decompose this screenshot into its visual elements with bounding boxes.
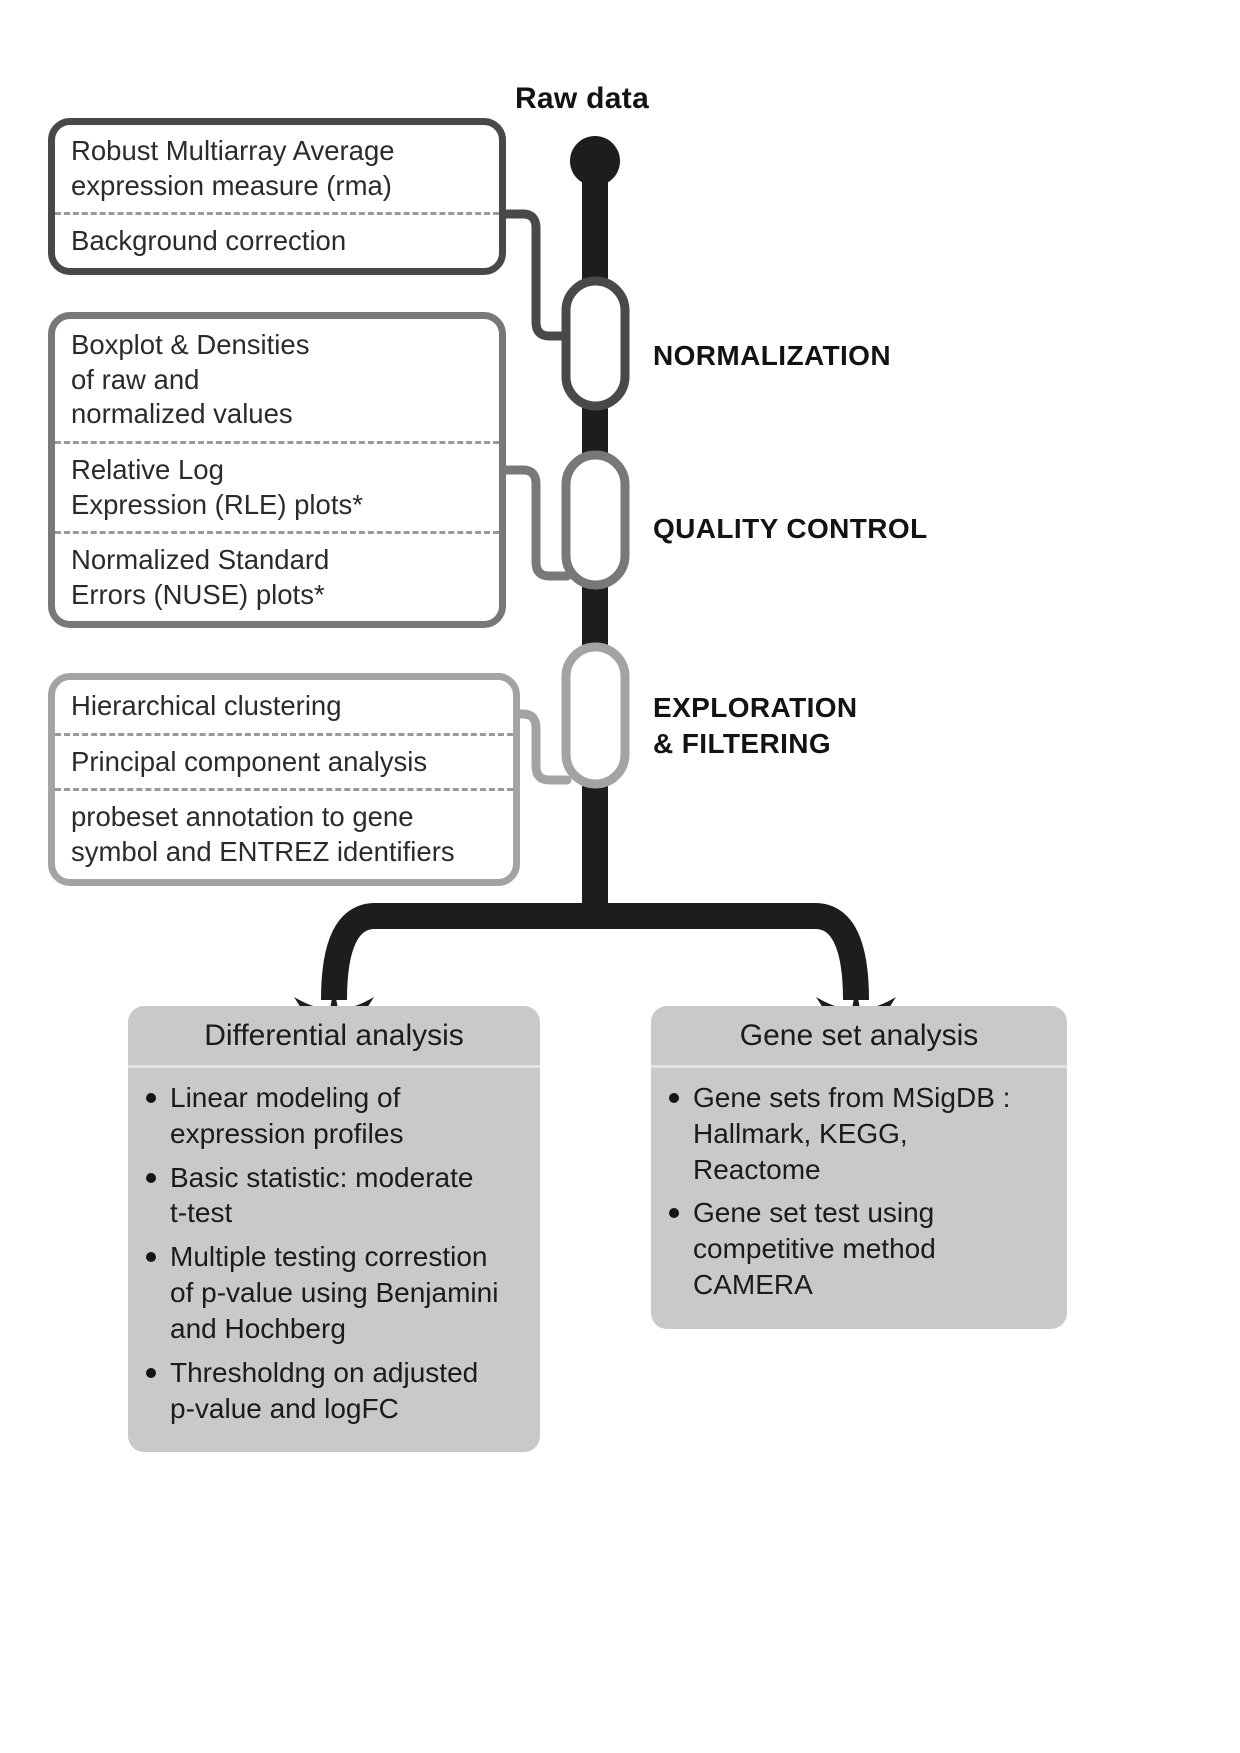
step-item: Boxplot & Densities of raw and normalize… xyxy=(55,319,499,441)
stage-pill-normalization xyxy=(566,281,625,406)
split-stub xyxy=(582,880,608,920)
stage-pill-exploration xyxy=(566,647,625,784)
stage-label-quality-control: QUALITY CONTROL xyxy=(653,511,928,547)
step-box-exploration[interactable]: Hierarchical clustering Principal compon… xyxy=(48,673,520,886)
step-item: Relative Log Expression (RLE) plots* xyxy=(55,441,499,531)
split-junction xyxy=(334,916,856,1000)
page-title: Raw data xyxy=(515,82,649,116)
stage-label-exploration: EXPLORATION & FILTERING xyxy=(653,690,858,763)
panel-bullet-list: Linear modeling of expression profiles B… xyxy=(128,1068,540,1452)
step-item: Normalized Standard Errors (NUSE) plots* xyxy=(55,531,499,621)
stage-label-normalization: NORMALIZATION xyxy=(653,338,891,374)
step-box-normalization[interactable]: Robust Multiarray Average expression mea… xyxy=(48,118,506,275)
panel-gene-set-analysis[interactable]: Gene set analysis Gene sets from MSigDB … xyxy=(651,1006,1067,1329)
step-item: Hierarchical clustering xyxy=(55,680,513,733)
step-item: probeset annotation to gene symbol and E… xyxy=(55,788,513,878)
step-box-quality-control[interactable]: Boxplot & Densities of raw and normalize… xyxy=(48,312,506,628)
pipeline-diagram: Raw data Robust Multiarray Average expre… xyxy=(0,0,1240,1753)
connector-quality-control xyxy=(500,470,567,576)
list-item: Thresholdng on adjusted p-value and logF… xyxy=(144,1355,526,1427)
list-item: Gene set test using competitive method C… xyxy=(667,1195,1053,1302)
stage-pill-quality-control xyxy=(566,455,625,585)
step-item: Robust Multiarray Average expression mea… xyxy=(55,125,499,212)
list-item: Multiple testing correstion of p-value u… xyxy=(144,1239,526,1346)
panel-title: Gene set analysis xyxy=(651,1006,1067,1068)
panel-bullet-list: Gene sets from MSigDB : Hallmark, KEGG, … xyxy=(651,1068,1067,1329)
list-item: Linear modeling of expression profiles xyxy=(144,1080,526,1152)
connector-normalization xyxy=(500,214,567,336)
list-item: Gene sets from MSigDB : Hallmark, KEGG, … xyxy=(667,1080,1053,1187)
panel-differential-analysis[interactable]: Differential analysis Linear modeling of… xyxy=(128,1006,540,1452)
panel-title: Differential analysis xyxy=(128,1006,540,1068)
list-item: Basic statistic: moderate t-test xyxy=(144,1160,526,1232)
step-item: Background correction xyxy=(55,212,499,268)
raw-data-node xyxy=(570,136,620,186)
step-item: Principal component analysis xyxy=(55,733,513,789)
